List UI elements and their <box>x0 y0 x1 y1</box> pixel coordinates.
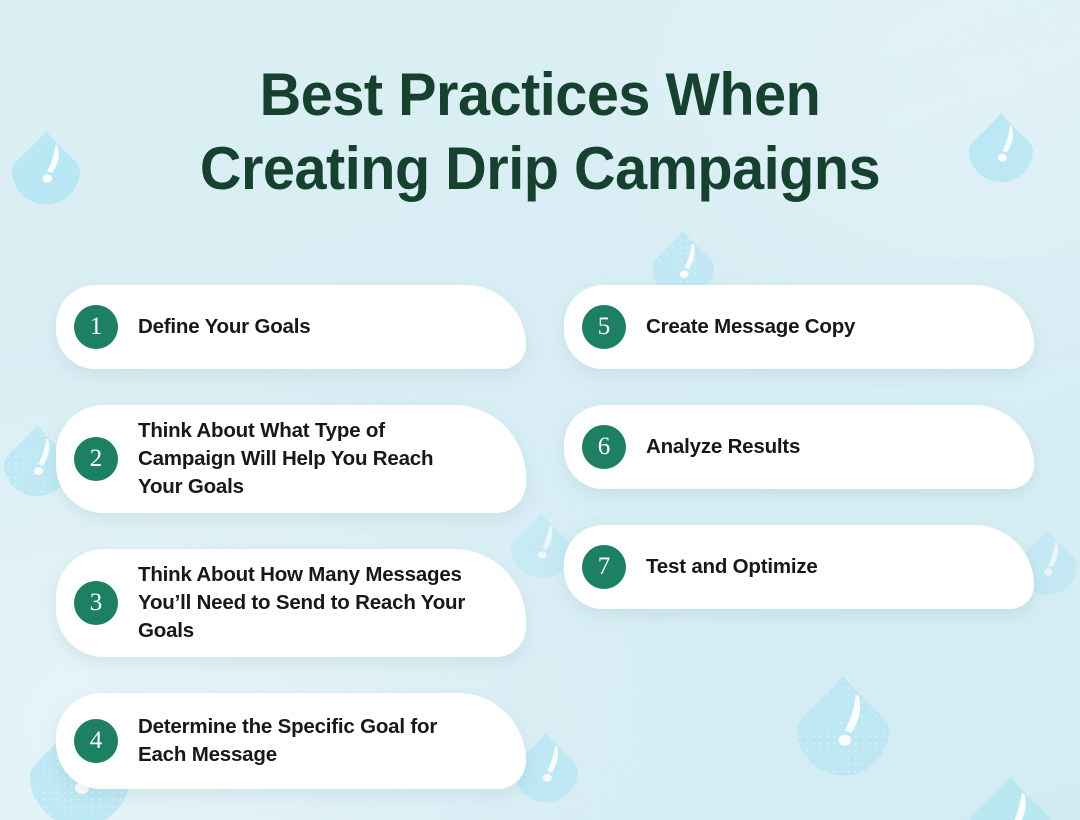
list-item-label: Test and Optimize <box>646 553 818 581</box>
list-item-label: Think About What Type of Campaign Will H… <box>138 417 468 501</box>
page-title: Best Practices When Creating Drip Campai… <box>0 58 1080 207</box>
page-title-line-1: Best Practices When <box>22 58 1059 132</box>
list-item-number-badge: 4 <box>74 719 118 763</box>
list-column-right: 5Create Message Copy6Analyze Results7Tes… <box>564 285 1034 645</box>
page-title-text: Best Practices When Creating Drip Campai… <box>22 58 1059 207</box>
list-item[interactable]: 5Create Message Copy <box>564 285 1034 369</box>
list-item-label: Determine the Specific Goal for Each Mes… <box>138 713 468 769</box>
list-item-label: Create Message Copy <box>646 313 855 341</box>
list-item-number-badge: 6 <box>582 425 626 469</box>
list-item[interactable]: 4Determine the Specific Goal for Each Me… <box>56 693 526 789</box>
list-item-label: Define Your Goals <box>138 313 310 341</box>
list-item-number-badge: 7 <box>582 545 626 589</box>
list-column-left: 1Define Your Goals2Think About What Type… <box>56 285 526 820</box>
list-item-label: Think About How Many Messages You’ll Nee… <box>138 561 468 645</box>
list-item[interactable]: 6Analyze Results <box>564 405 1034 489</box>
page-title-line-2: Creating Drip Campaigns <box>22 132 1059 206</box>
list-item[interactable]: 7Test and Optimize <box>564 525 1034 609</box>
list-item-number-badge: 2 <box>74 437 118 481</box>
list-item[interactable]: 3Think About How Many Messages You’ll Ne… <box>56 549 526 657</box>
list-item-number-badge: 5 <box>582 305 626 349</box>
list-item[interactable]: 2Think About What Type of Campaign Will … <box>56 405 526 513</box>
list-item-number-badge: 1 <box>74 305 118 349</box>
water-droplet-icon <box>968 776 1052 820</box>
list-item[interactable]: 1Define Your Goals <box>56 285 526 369</box>
water-droplet-icon <box>797 676 889 776</box>
list-item-label: Analyze Results <box>646 433 800 461</box>
list-item-number-badge: 3 <box>74 581 118 625</box>
